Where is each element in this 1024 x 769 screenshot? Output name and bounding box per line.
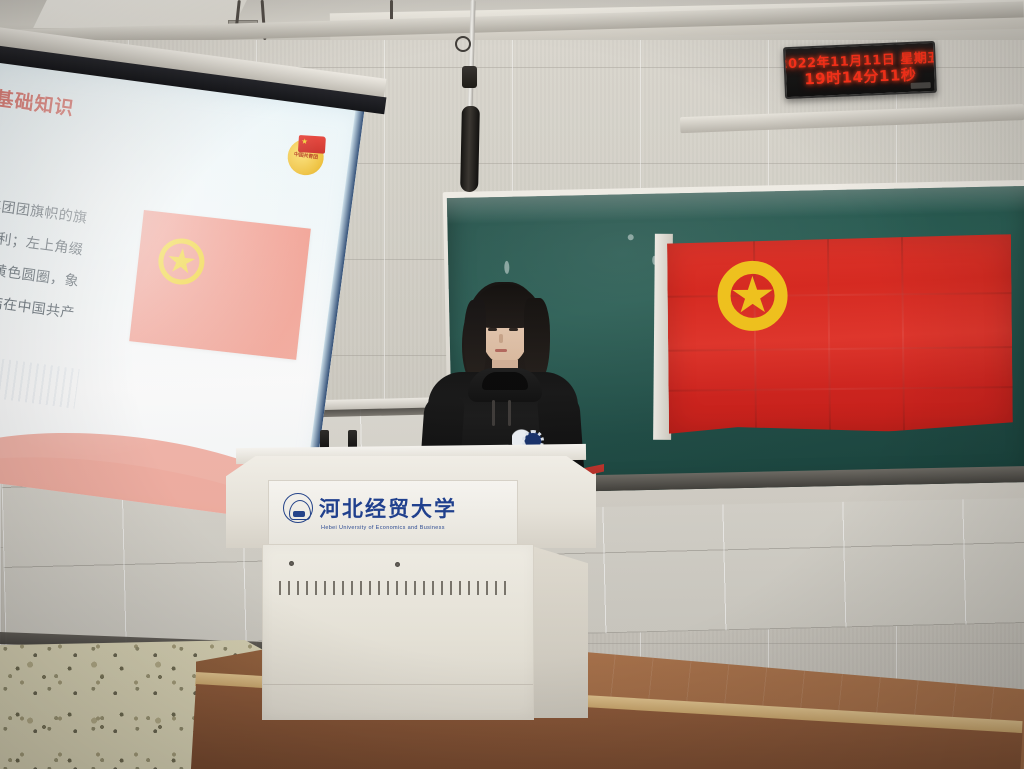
led-time-text: 19时14分11秒 — [804, 67, 917, 88]
university-name-en: Hebei University of Economics and Busine… — [321, 525, 445, 531]
youth-league-emblem-icon: 中国共青团 — [285, 133, 330, 178]
chalk-mark — [504, 261, 509, 274]
podium-panel-seam — [263, 684, 533, 685]
flag-star-emblem-icon — [717, 260, 788, 331]
university-seal-icon — [283, 493, 313, 523]
mouth — [495, 349, 507, 352]
university-logo: 河北经贸大学 — [283, 493, 457, 523]
podium-vent-slots — [279, 581, 511, 595]
podium-body-side — [532, 546, 588, 718]
five-pointed-star-icon — [166, 247, 197, 277]
communist-youth-league-flag — [653, 234, 1013, 438]
slide-title: 内基础知识 — [0, 81, 185, 136]
led-brand-badge — [911, 82, 931, 89]
classroom-photo: 2022年11月11日 星期五 19时14分11秒 — [0, 0, 1024, 769]
chalk-mark — [628, 234, 634, 240]
slide-flag-star-emblem-icon — [156, 236, 207, 287]
podium-logo-panel: 河北经贸大学 Hebei University of Economics and… — [268, 480, 518, 546]
flag-fold — [669, 386, 1013, 392]
hoodie-drawstring — [492, 400, 495, 426]
five-pointed-star-icon — [731, 276, 773, 316]
flag-fold — [668, 346, 1012, 352]
lectern-podium: 河北经贸大学 Hebei University of Economics and… — [226, 446, 596, 738]
chalk-dust-haze — [447, 186, 1024, 224]
microphone-joint — [462, 66, 477, 88]
hanging-microphone-icon — [460, 106, 480, 192]
eye — [488, 328, 497, 331]
flag-fold — [827, 236, 831, 432]
flag-cloth — [667, 234, 1013, 434]
microphone-cable-clip — [455, 36, 471, 52]
podium-screw — [289, 561, 294, 566]
eye — [509, 328, 518, 331]
hoodie-hood-opening — [482, 372, 528, 390]
podium-head: 河北经贸大学 Hebei University of Economics and… — [226, 456, 596, 548]
slide-faint-graphic — [0, 353, 80, 409]
podium-body — [262, 544, 534, 720]
podium-screw — [395, 562, 400, 567]
flag-fold — [901, 235, 905, 431]
led-clock-display: 2022年11月11日 星期五 19时14分11秒 — [783, 41, 937, 99]
slide-flag-image — [129, 210, 311, 360]
nose — [499, 334, 503, 343]
hoodie-drawstring — [508, 400, 511, 426]
university-name-cn: 河北经贸大学 — [319, 498, 457, 519]
